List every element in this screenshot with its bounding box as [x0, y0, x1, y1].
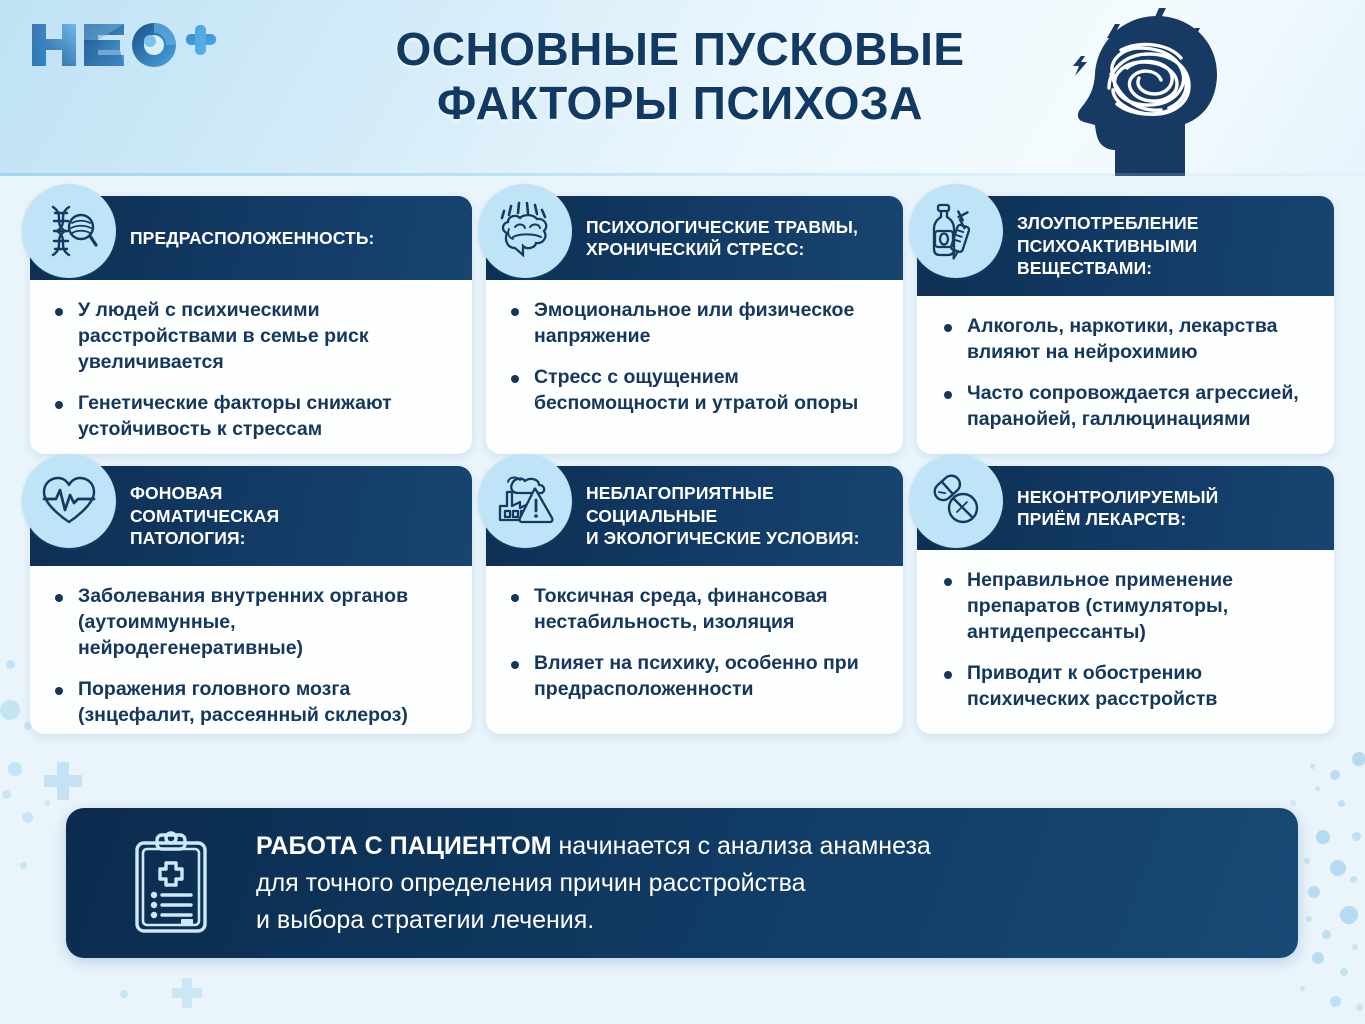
- bullet-list: У людей с психическими расстройствами в …: [52, 298, 454, 443]
- card-header: ЗЛОУПОТРЕБЛЕНИЕ ПСИХОАКТИВНЫМИ ВЕЩЕСТВАМ…: [917, 196, 1334, 296]
- banner-lead: РАБОТА С ПАЦИЕНТОМ: [256, 832, 552, 860]
- banner-line-2: для точного определения причин расстройс…: [256, 865, 931, 902]
- card-title: НЕБЛАГОПРИЯТНЫЕ СОЦИАЛЬНЫЕ И ЭКОЛОГИЧЕСК…: [586, 482, 860, 549]
- card-title: ЗЛОУПОТРЕБЛЕНИЕ ПСИХОАКТИВНЫМИ ВЕЩЕСТВАМ…: [1017, 212, 1199, 279]
- infographic-page: ОСНОВНЫЕ ПУСКОВЫЕ ФАКТОРЫ ПСИХОЗА: [0, 0, 1365, 1024]
- list-item: Приводит к обострению психических расстр…: [941, 661, 1316, 713]
- card-body: Эмоциональное или физическое напряжение …: [486, 280, 903, 442]
- card-title: НЕКОНТРОЛИРУЕМЫЙ ПРИЁМ ЛЕКАРСТВ:: [1017, 486, 1218, 531]
- list-item: Стресс с ощущением беспомощности и утрат…: [508, 365, 885, 417]
- bottle-syringe-icon: [909, 184, 1003, 278]
- card-body: У людей с психическими расстройствами в …: [30, 280, 472, 468]
- factory-warning-icon: [478, 454, 572, 548]
- summary-banner: РАБОТА С ПАЦИЕНТОМ начинается с анализа …: [66, 808, 1298, 958]
- list-item: Заболевания внутренних органов (аутоимму…: [52, 584, 454, 662]
- list-item: Генетические факторы снижают устойчивост…: [52, 391, 454, 443]
- card-title: ФОНОВАЯ СОМАТИЧЕСКАЯ ПАТОЛОГИЯ:: [130, 482, 279, 549]
- stressed-brain-icon: [478, 184, 572, 278]
- card-title: ПСИХОЛОГИЧЕСКИЕ ТРАВМЫ, ХРОНИЧЕСКИЙ СТРЕ…: [586, 216, 858, 261]
- dna-magnifier-icon: [22, 184, 116, 278]
- bullet-list: Токсичная среда, финансовая нестабильнос…: [508, 584, 885, 703]
- page-title-line-2: ФАКТОРЫ ПСИХОЗА: [330, 76, 1030, 130]
- list-item: Алкоголь, наркотики, лекарства влияют на…: [941, 314, 1316, 366]
- brand-logo[interactable]: [28, 16, 218, 74]
- clipboard-medical-icon: [106, 831, 236, 935]
- list-item: Часто сопровождается агрессией, паранойе…: [941, 381, 1316, 433]
- bullet-list: Неправильное применение препаратов (стим…: [941, 568, 1316, 713]
- list-item: Поражения головного мозга (знцефалит, ра…: [52, 677, 454, 729]
- card-trauma-stress: ПСИХОЛОГИЧЕСКИЕ ТРАВМЫ, ХРОНИЧЕСКИЙ СТРЕ…: [486, 196, 903, 454]
- card-header: НЕКОНТРОЛИРУЕМЫЙ ПРИЁМ ЛЕКАРСТВ:: [917, 466, 1334, 550]
- page-title-line-1: ОСНОВНЫЕ ПУСКОВЫЕ: [330, 22, 1030, 76]
- page-title: ОСНОВНЫЕ ПУСКОВЫЕ ФАКТОРЫ ПСИХОЗА: [330, 22, 1030, 131]
- list-item: У людей с психическими расстройствами в …: [52, 298, 454, 376]
- card-social-ecological: НЕБЛАГОПРИЯТНЫЕ СОЦИАЛЬНЫЕ И ЭКОЛОГИЧЕСК…: [486, 466, 903, 734]
- decor-cross-icon: [172, 978, 202, 1008]
- card-uncontrolled-medication: НЕКОНТРОЛИРУЕМЫЙ ПРИЁМ ЛЕКАРСТВ: Неправи…: [917, 466, 1334, 734]
- list-item: Токсичная среда, финансовая нестабильнос…: [508, 584, 885, 636]
- banner-line-3: и выбора стратегии лечения.: [256, 902, 931, 939]
- card-body: Неправильное применение препаратов (стим…: [917, 550, 1334, 738]
- card-somatic-pathology: ФОНОВАЯ СОМАТИЧЕСКАЯ ПАТОЛОГИЯ: Заболева…: [30, 466, 472, 734]
- page-header: ОСНОВНЫЕ ПУСКОВЫЕ ФАКТОРЫ ПСИХОЗА: [0, 0, 1365, 176]
- card-header: ПРЕДРАСПОЛОЖЕННОСТЬ:: [30, 196, 472, 280]
- list-item: Неправильное применение препаратов (стим…: [941, 568, 1316, 646]
- card-substance-abuse: ЗЛОУПОТРЕБЛЕНИЕ ПСИХОАКТИВНЫМИ ВЕЩЕСТВАМ…: [917, 196, 1334, 454]
- card-header: ПСИХОЛОГИЧЕСКИЕ ТРАВМЫ, ХРОНИЧЕСКИЙ СТРЕ…: [486, 196, 903, 280]
- banner-text: РАБОТА С ПАЦИЕНТОМ начинается с анализа …: [256, 828, 931, 939]
- card-header: НЕБЛАГОПРИЯТНЫЕ СОЦИАЛЬНЫЕ И ЭКОЛОГИЧЕСК…: [486, 466, 903, 566]
- card-title: ПРЕДРАСПОЛОЖЕННОСТЬ:: [130, 227, 374, 249]
- card-predisposition: ПРЕДРАСПОЛОЖЕННОСТЬ: У людей с психическ…: [30, 196, 472, 454]
- bullet-list: Алкоголь, наркотики, лекарства влияют на…: [941, 314, 1316, 433]
- card-body: Заболевания внутренних органов (аутоимму…: [30, 566, 472, 754]
- card-header: ФОНОВАЯ СОМАТИЧЕСКАЯ ПАТОЛОГИЯ:: [30, 466, 472, 566]
- decor-cross-icon: [44, 762, 82, 800]
- card-body: Алкоголь, наркотики, лекарства влияют на…: [917, 296, 1334, 458]
- pills-icon: [909, 454, 1003, 548]
- banner-line-1-rest: начинается с анализа анамнеза: [552, 832, 931, 860]
- bullet-list: Эмоциональное или физическое напряжение …: [508, 298, 885, 417]
- card-body: Токсичная среда, финансовая нестабильнос…: [486, 566, 903, 728]
- head-with-tangled-thoughts-illustration: [1065, 4, 1250, 176]
- banner-line-1: РАБОТА С ПАЦИЕНТОМ начинается с анализа …: [256, 828, 931, 865]
- factor-cards-grid: ПРЕДРАСПОЛОЖЕННОСТЬ: У людей с психическ…: [30, 196, 1335, 734]
- list-item: Эмоциональное или физическое напряжение: [508, 298, 885, 350]
- list-item: Влияет на психику, особенно при предрасп…: [508, 651, 885, 703]
- bullet-list: Заболевания внутренних органов (аутоимму…: [52, 584, 454, 729]
- heart-pulse-icon: [22, 454, 116, 548]
